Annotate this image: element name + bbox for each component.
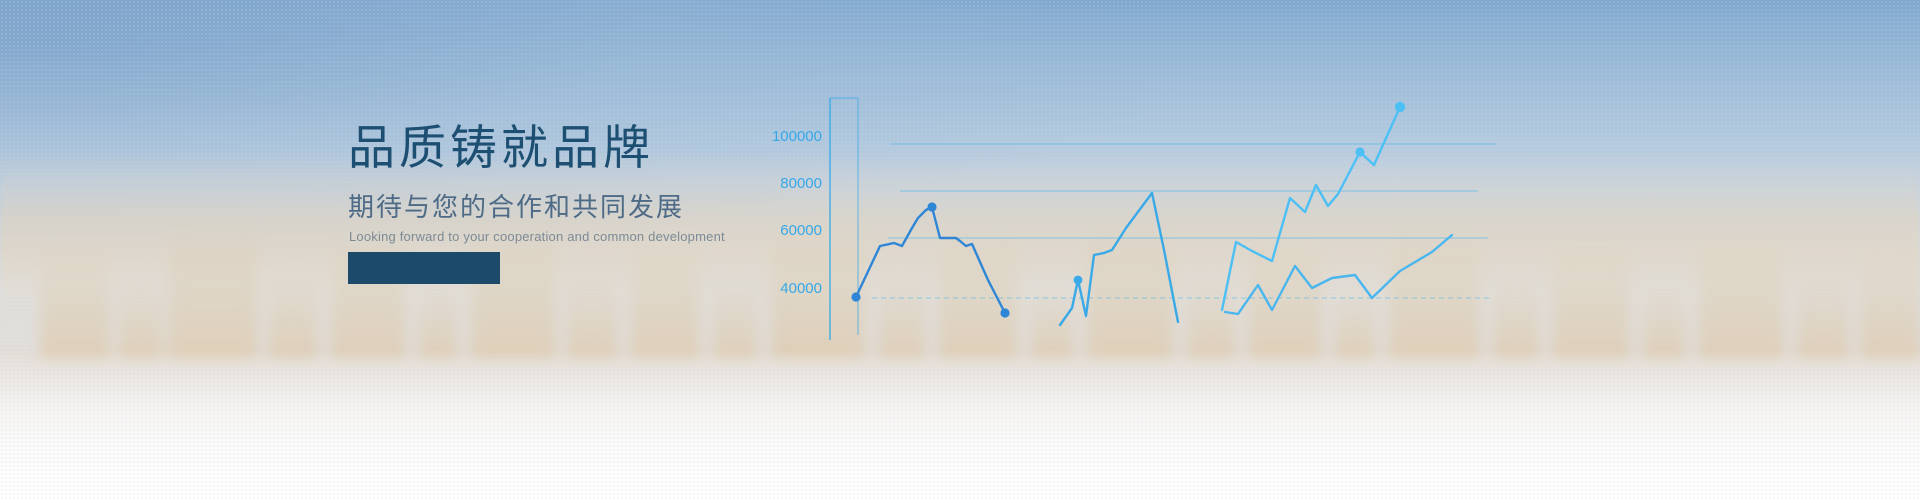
series-4-marker-mid xyxy=(1355,147,1364,156)
series-1-line xyxy=(856,207,1005,313)
cta-button[interactable] xyxy=(348,252,500,284)
series-4-line xyxy=(1222,107,1400,310)
ytick-label-80000: 80000 xyxy=(780,175,822,192)
ytick-label-100000: 100000 xyxy=(772,128,822,145)
hero-banner: 品质铸就品牌 期待与您的合作和共同发展 Looking forward to y… xyxy=(0,0,1920,500)
line-chart: 100000 80000 60000 40000 xyxy=(760,60,1560,360)
line-chart-svg: 100000 80000 60000 40000 xyxy=(760,60,1560,360)
series-2-line xyxy=(1060,193,1178,325)
series-3-line xyxy=(1225,235,1452,314)
ytick-label-60000: 60000 xyxy=(780,222,822,239)
series-1-marker-end xyxy=(1000,308,1009,317)
series-1-marker-peak xyxy=(927,202,936,211)
series-2-marker xyxy=(1074,276,1083,285)
series-4-marker-end xyxy=(1395,102,1405,112)
series-1-marker-start xyxy=(851,292,860,301)
ytick-label-40000: 40000 xyxy=(780,280,822,297)
